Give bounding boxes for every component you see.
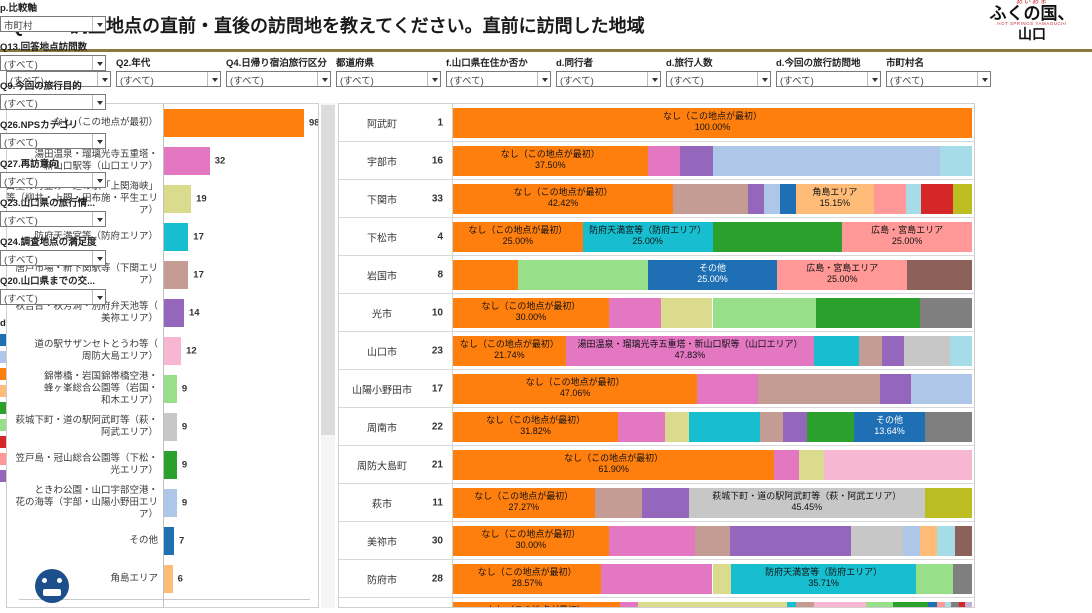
table-row[interactable]: 周防大島町21なし（この地点が最初）61.90%: [339, 446, 974, 484]
stack-segment[interactable]: [859, 336, 882, 366]
chevron-down-icon[interactable]: [92, 17, 105, 31]
filter-value: (すべて): [120, 73, 154, 87]
chevron-down-icon[interactable]: [92, 134, 105, 148]
right-filter-value: (すべて): [4, 174, 38, 188]
segment-label: 湯田温泉・瑠璃光寺五重塔・新山口駅等（山口エリア）47.83%: [566, 339, 814, 361]
segment-label: なし（この地点が最初）30.00%: [453, 529, 609, 551]
stack-segment[interactable]: なし（この地点が最初）27.27%: [453, 488, 595, 518]
stack-segment[interactable]: [665, 412, 689, 442]
bar-value-label: 12: [186, 346, 197, 357]
segment-label: 萩城下町・道の駅阿武町等（萩・阿武エリア）45.45%: [689, 491, 925, 513]
stack-segment[interactable]: [937, 526, 954, 556]
dashboard-root: Q18-1. 調査地点の直前・直後の訪問地を教えてください。直前に訪問した地域 …: [0, 0, 1092, 613]
bar-rect[interactable]: [164, 413, 177, 441]
segment-label: 防府天満宮等（防府エリア）25.00%: [583, 225, 713, 247]
stack-segment[interactable]: なし（この地点が最初）31.82%: [453, 412, 618, 442]
table-row[interactable]: 萩市11なし（この地点が最初）27.27%萩城下町・道の駅阿武町等（萩・阿武エリ…: [339, 484, 974, 522]
stack-segment[interactable]: [680, 146, 712, 176]
filter-dropdown[interactable]: (すべて): [556, 71, 661, 87]
segment-label: その他25.00%: [648, 263, 778, 285]
stack-segment[interactable]: [796, 602, 814, 609]
segment-label: その他13.64%: [854, 415, 925, 437]
stacked-bar: なし（この地点が最初）30.00%: [453, 526, 972, 556]
filter-3: Q4.日帰り宿泊旅行区分(すべて): [226, 58, 331, 87]
bar-value-label: 7: [179, 536, 184, 547]
stack-segment[interactable]: 湯田温泉・瑠璃光寺五重塔・新山口駅等（山口エリア）47.83%: [566, 336, 814, 366]
stack-segment[interactable]: [642, 488, 689, 518]
bar-value-label: 9: [182, 384, 187, 395]
table-row[interactable]: 美祢市30なし（この地点が最初）30.00%: [339, 522, 974, 560]
right-filter-2: Q13.回答地点訪問数(すべて): [0, 39, 106, 71]
chevron-down-icon[interactable]: [92, 173, 105, 187]
right-filter-value: (すべて): [4, 96, 38, 110]
right-filter-5: Q27.再訪意向(すべて): [0, 156, 106, 188]
stack-segment[interactable]: [925, 488, 972, 518]
chevron-down-icon[interactable]: [92, 95, 105, 109]
stacked-bar: なし（この地点が最初）25.00%防府天満宮等（防府エリア）25.00%広島・宮…: [453, 222, 972, 252]
stack-segment[interactable]: [928, 602, 937, 609]
stack-segment[interactable]: なし（この地点が最初）32.20%: [453, 602, 620, 609]
right-filter-dropdown[interactable]: (すべて): [0, 289, 106, 305]
stacked-bar: なし（この地点が最初）32.20%: [453, 602, 972, 609]
row-municipality-name: 周防大島町: [347, 457, 417, 472]
bar-value-label: 9: [182, 422, 187, 433]
stack-segment[interactable]: [951, 602, 960, 609]
bar-rect[interactable]: [164, 489, 177, 517]
row-count: 8: [417, 269, 443, 280]
stack-segment[interactable]: [866, 602, 892, 609]
stack-segment[interactable]: [814, 336, 859, 366]
segment-label: なし（この地点が最初）25.00%: [453, 225, 583, 247]
stacked-bar: なし（この地点が最初）37.50%: [453, 146, 972, 176]
bar-value-label: 19: [196, 194, 207, 205]
stack-segment[interactable]: [780, 184, 796, 214]
row-count: 17: [417, 383, 443, 394]
bar-rect[interactable]: [164, 299, 184, 327]
bar-rect[interactable]: [164, 565, 173, 593]
stack-segment[interactable]: [713, 222, 843, 252]
stack-segment[interactable]: [730, 526, 851, 556]
segment-label: なし（この地点が最初）31.82%: [453, 415, 618, 437]
row-municipality-name: 岩国市: [347, 267, 417, 282]
filter-label: 市町村名: [886, 58, 991, 69]
municipality-stacked-bar-panel: 阿武町1なし（この地点が最初）100.00%宇部市16なし（この地点が最初）37…: [338, 103, 975, 608]
stack-segment[interactable]: [920, 526, 937, 556]
right-filter-8: Q20.山口県までの交...(すべて): [0, 273, 106, 305]
bar-category-label: 錦帯橋・岩国錦帯橋空港・蜂ヶ峯総合公園等（岩国・和木エリア）: [6, 371, 158, 407]
stack-segment[interactable]: [824, 450, 972, 480]
stack-segment[interactable]: [882, 336, 905, 366]
stack-segment[interactable]: なし（この地点が最初）30.00%: [453, 526, 609, 556]
right-filter-value: (すべて): [4, 291, 38, 305]
stack-segment[interactable]: [921, 184, 952, 214]
chevron-down-icon[interactable]: [647, 72, 660, 86]
stack-segment[interactable]: [618, 412, 665, 442]
row-count: 23: [417, 345, 443, 356]
row-municipality-name: 下関市: [347, 191, 417, 206]
chevron-down-icon[interactable]: [757, 72, 770, 86]
row-count: 33: [417, 193, 443, 204]
segment-label: 角島エリア15.15%: [796, 187, 875, 209]
filter-7: d.旅行人数(すべて): [666, 58, 771, 87]
stack-segment[interactable]: [648, 146, 680, 176]
stack-segment[interactable]: [851, 526, 903, 556]
right-filter-dropdown[interactable]: (すべて): [0, 55, 106, 71]
stack-segment[interactable]: [903, 526, 920, 556]
stack-segment[interactable]: [904, 336, 949, 366]
table-row[interactable]: 下松市4なし（この地点が最初）25.00%防府天満宮等（防府エリア）25.00%…: [339, 218, 974, 256]
stack-segment[interactable]: [601, 564, 712, 594]
filter-9: 市町村名(すべて): [886, 58, 991, 87]
title-bar: Q18-1. 調査地点の直前・直後の訪問地を教えてください。直前に訪問した地域 …: [0, 0, 1092, 52]
bar-rect[interactable]: [164, 527, 174, 555]
stack-segment[interactable]: [814, 602, 867, 609]
stack-segment[interactable]: [906, 184, 922, 214]
bar-value-label: 14: [189, 308, 200, 319]
stack-segment[interactable]: なし（この地点が最初）21.74%: [453, 336, 566, 366]
stack-segment[interactable]: [953, 184, 972, 214]
row-count: 21: [417, 459, 443, 470]
brand-logo: あいあま ふくの国、 HOT SPRINGS YAMAGUCHI 山口: [984, 0, 1080, 50]
stack-segment[interactable]: 防府天満宮等（防府エリア）25.00%: [583, 222, 713, 252]
bar-chart-row[interactable]: 錦帯橋・岩国錦帯橋空港・蜂ヶ峯総合公園等（岩国・和木エリア）9: [7, 370, 318, 408]
table-row[interactable]: 岩国市8その他25.00%広島・宮島エリア25.00%: [339, 256, 974, 294]
table-row[interactable]: 阿武町1なし（この地点が最初）100.00%: [339, 104, 974, 142]
stack-segment[interactable]: なし（この地点が最初）30.00%: [453, 298, 609, 328]
stack-segment[interactable]: [787, 602, 796, 609]
stack-segment[interactable]: [713, 564, 732, 594]
chevron-down-icon[interactable]: [92, 212, 105, 226]
filter-bar: Q1.性別(すべて)Q2.年代(すべて)Q4.日帰り宿泊旅行区分(すべて)都道府…: [0, 55, 1092, 101]
right-filter-dropdown[interactable]: (すべて): [0, 211, 106, 227]
stack-segment[interactable]: [609, 298, 661, 328]
segment-label: 広島・宮島エリア25.00%: [842, 225, 972, 247]
bar-value-label: 9: [182, 498, 187, 509]
right-filter-7: Q24.調査地点の満足度(すべて): [0, 234, 106, 266]
stacked-bar: なし（この地点が最初）21.74%湯田温泉・瑠璃光寺五重塔・新山口駅等（山口エリ…: [453, 336, 972, 366]
filter-4: 都道府県(すべて): [336, 58, 441, 87]
row-count: 16: [417, 155, 443, 166]
stack-segment[interactable]: [807, 412, 854, 442]
logo-line-2: ふくの国、: [984, 5, 1080, 22]
segment-label: なし（この地点が最初）47.06%: [453, 377, 697, 399]
stack-segment[interactable]: [950, 336, 972, 366]
table-row[interactable]: 柳井市59なし（この地点が最初）32.20%: [339, 598, 974, 608]
filter-label: d.旅行人数: [666, 58, 771, 69]
bar-rect[interactable]: [164, 261, 188, 289]
stack-segment[interactable]: [940, 146, 972, 176]
bar-category-label: 笠戸島・冠山総合公園等（下松・光エリア）: [6, 453, 158, 477]
stack-segment[interactable]: なし（この地点が最初）25.00%: [453, 222, 583, 252]
filter-value: (すべて): [230, 73, 264, 87]
segment-label: なし（この地点が最初）30.00%: [453, 301, 609, 323]
right-filter-label: Q9.今回の旅行目的: [0, 78, 106, 92]
right-filter-label: Q13.回答地点訪問数: [0, 39, 106, 53]
left-panel-scrollbar[interactable]: [321, 103, 335, 608]
table-row[interactable]: 下関市33なし（この地点が最初）42.42%角島エリア15.15%: [339, 180, 974, 218]
row-count: 11: [417, 497, 443, 508]
row-municipality-name: 阿武町: [347, 115, 417, 130]
filter-label: f.山口県在住か否か: [446, 58, 551, 69]
stack-segment[interactable]: [713, 146, 778, 176]
chevron-down-icon[interactable]: [92, 56, 105, 70]
bar-chart-row[interactable]: 萩城下町・道の駅阿武町等（萩・阿武エリア）9: [7, 408, 318, 446]
row-count: 22: [417, 421, 443, 432]
stack-segment[interactable]: [893, 602, 928, 609]
filter-label: d.同行者: [556, 58, 661, 69]
right-filter-1: p.比較軸市町村: [0, 0, 106, 32]
filter-6: d.同行者(すべて): [556, 58, 661, 87]
filter-label: Q2.年代: [116, 58, 221, 69]
right-filter-4: Q26.NPSカテゴリ(すべて): [0, 117, 106, 149]
stack-segment[interactable]: [777, 146, 939, 176]
stack-segment[interactable]: 防府天満宮等（防府エリア）35.71%: [731, 564, 916, 594]
right-filter-label: Q20.山口県までの交...: [0, 273, 106, 287]
filter-8: d.今回の旅行訪問地(すべて): [776, 58, 881, 87]
bar-chart-row[interactable]: 道の駅サザンセトとうわ等（周防大島エリア）12: [7, 332, 318, 370]
filter-label: 都道府県: [336, 58, 441, 69]
bar-rect[interactable]: [164, 223, 188, 251]
stack-segment[interactable]: 角島エリア15.15%: [796, 184, 875, 214]
table-row[interactable]: 山口市23なし（この地点が最初）21.74%湯田温泉・瑠璃光寺五重塔・新山口駅等…: [339, 332, 974, 370]
bar-value-label: 17: [193, 232, 204, 243]
row-count: 1: [417, 117, 443, 128]
bar-value-label: 32: [215, 156, 226, 167]
table-row[interactable]: 光市10なし（この地点が最初）30.00%: [339, 294, 974, 332]
bar-chart-row[interactable]: ときわ公園・山口宇部空港・花の海等（宇部・山陽小野田エリア）9: [7, 484, 318, 522]
right-filter-dropdown[interactable]: (すべて): [0, 250, 106, 266]
row-municipality-name: 宇部市: [347, 153, 417, 168]
stack-segment[interactable]: [916, 564, 953, 594]
stacked-bar: なし（この地点が最初）42.42%角島エリア15.15%: [453, 184, 972, 214]
chevron-down-icon[interactable]: [92, 251, 105, 265]
segment-label: なし（この地点が最初）32.20%: [453, 605, 620, 609]
stacked-bar: なし（この地点が最初）27.27%萩城下町・道の駅阿武町等（萩・阿武エリア）45…: [453, 488, 972, 518]
stack-segment[interactable]: [925, 412, 972, 442]
stack-segment[interactable]: [661, 298, 713, 328]
chevron-down-icon[interactable]: [977, 72, 990, 86]
filter-value: (すべて): [450, 73, 484, 87]
right-filter-6: Q23.山口県の旅行情...(すべて): [0, 195, 106, 227]
stack-segment[interactable]: その他25.00%: [648, 260, 778, 290]
stack-segment[interactable]: [955, 526, 972, 556]
row-municipality-name: 山口市: [347, 343, 417, 358]
bar-value-label: 17: [193, 270, 204, 281]
filter-value: (すべて): [890, 73, 924, 87]
row-count: 28: [417, 573, 443, 584]
segment-label: なし（この地点が最初）100.00%: [453, 111, 972, 133]
row-municipality-name: 美祢市: [347, 533, 417, 548]
stack-segment[interactable]: [689, 412, 760, 442]
logo-line-4: 山口: [984, 27, 1080, 41]
stack-segment[interactable]: 広島・宮島エリア25.00%: [777, 260, 907, 290]
stack-segment[interactable]: [758, 374, 880, 404]
chevron-down-icon[interactable]: [427, 72, 440, 86]
stack-segment[interactable]: なし（この地点が最初）37.50%: [453, 146, 648, 176]
bar-category-label: ときわ公園・山口宇部空港・花の海等（宇部・山陽小野田エリア）: [6, 485, 158, 521]
filter-value: (すべて): [670, 73, 704, 87]
right-filter-dropdown[interactable]: (すべて): [0, 172, 106, 188]
right-filter-label: Q24.調査地点の満足度: [0, 234, 106, 248]
stack-segment[interactable]: 広島・宮島エリア25.00%: [842, 222, 972, 252]
stacked-bar: その他25.00%広島・宮島エリア25.00%: [453, 260, 972, 290]
chevron-down-icon[interactable]: [207, 72, 220, 86]
right-filter-dropdown[interactable]: (すべて): [0, 94, 106, 110]
right-filter-label: Q23.山口県の旅行情...: [0, 195, 106, 209]
stack-segment[interactable]: [907, 260, 972, 290]
filter-value: (すべて): [560, 73, 594, 87]
bar-value-label: 6: [178, 574, 183, 585]
filter-dropdown[interactable]: (すべて): [226, 71, 331, 87]
bar-rect[interactable]: [164, 147, 210, 175]
scrollbar-thumb[interactable]: [321, 105, 335, 435]
bar-value-label: 9: [182, 460, 187, 471]
stack-segment[interactable]: [937, 602, 946, 609]
filter-dropdown[interactable]: (すべて): [776, 71, 881, 87]
stack-segment[interactable]: [609, 526, 696, 556]
filter-value: (すべて): [340, 73, 374, 87]
bar-rect[interactable]: [164, 109, 304, 137]
stack-segment[interactable]: [965, 602, 972, 609]
bar-value-label: 98: [309, 118, 319, 129]
chevron-down-icon[interactable]: [867, 72, 880, 86]
chevron-down-icon[interactable]: [317, 72, 330, 86]
chevron-down-icon[interactable]: [537, 72, 550, 86]
right-filter-value: (すべて): [4, 57, 38, 71]
filter-dropdown[interactable]: (すべて): [446, 71, 551, 87]
stacked-bar: なし（この地点が最初）28.57%防府天満宮等（防府エリア）35.71%: [453, 564, 972, 594]
stack-segment[interactable]: [713, 298, 817, 328]
stack-segment[interactable]: [880, 374, 911, 404]
right-filter-value: 市町村: [4, 18, 33, 32]
stack-segment[interactable]: なし（この地点が最初）42.42%: [453, 184, 673, 214]
bar-chart-row[interactable]: その他7: [7, 522, 318, 560]
filter-dropdown[interactable]: (すべて): [886, 71, 991, 87]
stack-segment[interactable]: [816, 298, 920, 328]
row-municipality-name: 下松市: [347, 229, 417, 244]
bar-rect[interactable]: [164, 375, 177, 403]
row-count: 4: [417, 231, 443, 242]
stack-segment[interactable]: なし（この地点が最初）28.57%: [453, 564, 601, 594]
filter-label: d.今回の旅行訪問地: [776, 58, 881, 69]
stack-segment[interactable]: [920, 298, 972, 328]
stacked-bar: なし（この地点が最初）47.06%: [453, 374, 972, 404]
stack-segment[interactable]: 萩城下町・道の駅阿武町等（萩・阿武エリア）45.45%: [689, 488, 925, 518]
stack-segment[interactable]: [673, 184, 748, 214]
stack-segment[interactable]: [748, 184, 764, 214]
bar-chart-row[interactable]: 笠戸島・冠山総合公園等（下松・光エリア）9: [7, 446, 318, 484]
right-filter-dropdown[interactable]: 市町村: [0, 16, 106, 32]
table-row[interactable]: 山陽小野田市17なし（この地点が最初）47.06%: [339, 370, 974, 408]
stacked-bar: なし（この地点が最初）100.00%: [453, 108, 972, 138]
filter-dropdown[interactable]: (すべて): [116, 71, 221, 87]
stack-segment[interactable]: [953, 564, 972, 594]
segment-label: 防府天満宮等（防府エリア）35.71%: [731, 567, 916, 589]
right-filter-value: (すべて): [4, 252, 38, 266]
segment-label: なし（この地点が最初）28.57%: [453, 567, 601, 589]
segment-label: なし（この地点が最初）42.42%: [453, 187, 673, 209]
stack-segment[interactable]: [774, 450, 799, 480]
stack-segment[interactable]: [764, 184, 780, 214]
stack-segment[interactable]: [760, 412, 784, 442]
stack-segment[interactable]: [518, 260, 648, 290]
row-count: 10: [417, 307, 443, 318]
stacked-bar: なし（この地点が最初）61.90%: [453, 450, 972, 480]
right-filter-dropdown[interactable]: (すべて): [0, 133, 106, 149]
row-count: 30: [417, 535, 443, 546]
row-municipality-name: 光市: [347, 305, 417, 320]
filter-value: (すべて): [780, 73, 814, 87]
segment-label: 広島・宮島エリア25.00%: [777, 263, 907, 285]
table-row[interactable]: 宇部市16なし（この地点が最初）37.50%: [339, 142, 974, 180]
stack-segment[interactable]: [799, 450, 824, 480]
bar-rect[interactable]: [164, 337, 181, 365]
stack-segment[interactable]: [453, 260, 518, 290]
filter-label: Q4.日帰り宿泊旅行区分: [226, 58, 331, 69]
stack-segment[interactable]: [697, 374, 758, 404]
bar-rect[interactable]: [164, 185, 191, 213]
stacked-bar: なし（この地点が最初）31.82%その他13.64%: [453, 412, 972, 442]
stack-segment[interactable]: [783, 412, 807, 442]
stacked-bar: なし（この地点が最初）30.00%: [453, 298, 972, 328]
bar-category-label: 道の駅サザンセトとうわ等（周防大島エリア）: [6, 339, 158, 363]
row-municipality-name: 萩市: [347, 495, 417, 510]
row-municipality-name: 周南市: [347, 419, 417, 434]
filter-2: Q2.年代(すべて): [116, 58, 221, 87]
stack-segment[interactable]: [638, 602, 788, 609]
stack-segment[interactable]: なし（この地点が最初）100.00%: [453, 108, 972, 138]
row-municipality-name: 山陽小野田市: [347, 381, 417, 396]
right-filter-3: Q9.今回の旅行目的(すべて): [0, 78, 106, 110]
segment-label: なし（この地点が最初）27.27%: [453, 491, 595, 513]
table-row[interactable]: 防府市28なし（この地点が最初）28.57%防府天満宮等（防府エリア）35.71…: [339, 560, 974, 598]
bar-rect[interactable]: [164, 451, 177, 479]
segment-label: なし（この地点が最初）61.90%: [453, 453, 774, 475]
chevron-down-icon[interactable]: [92, 290, 105, 304]
right-filter-label: Q27.再訪意向: [0, 156, 106, 170]
stack-segment[interactable]: [874, 184, 905, 214]
stack-segment[interactable]: [911, 374, 972, 404]
stack-segment[interactable]: [620, 602, 638, 609]
right-filter-label: Q26.NPSカテゴリ: [0, 117, 106, 131]
right-filter-value: (すべて): [4, 135, 38, 149]
segment-label: なし（この地点が最初）37.50%: [453, 149, 648, 171]
mascot-icon: [28, 569, 76, 609]
right-filter-value: (すべて): [4, 213, 38, 227]
row-municipality-name: 防府市: [347, 571, 417, 586]
right-filter-label: p.比較軸: [0, 0, 106, 14]
filter-dropdown[interactable]: (すべて): [336, 71, 441, 87]
stack-segment[interactable]: その他13.64%: [854, 412, 925, 442]
filter-dropdown[interactable]: (すべて): [666, 71, 771, 87]
stack-segment[interactable]: なし（この地点が最初）47.06%: [453, 374, 697, 404]
table-row[interactable]: 周南市22なし（この地点が最初）31.82%その他13.64%: [339, 408, 974, 446]
stack-segment[interactable]: [695, 526, 730, 556]
bar-category-label: 萩城下町・道の駅阿武町等（萩・阿武エリア）: [6, 415, 158, 439]
segment-label: なし（この地点が最初）21.74%: [453, 339, 566, 361]
filter-5: f.山口県在住か否か(すべて): [446, 58, 551, 87]
bar-category-label: その他: [6, 535, 158, 547]
stack-segment[interactable]: [595, 488, 642, 518]
stack-segment[interactable]: なし（この地点が最初）61.90%: [453, 450, 774, 480]
